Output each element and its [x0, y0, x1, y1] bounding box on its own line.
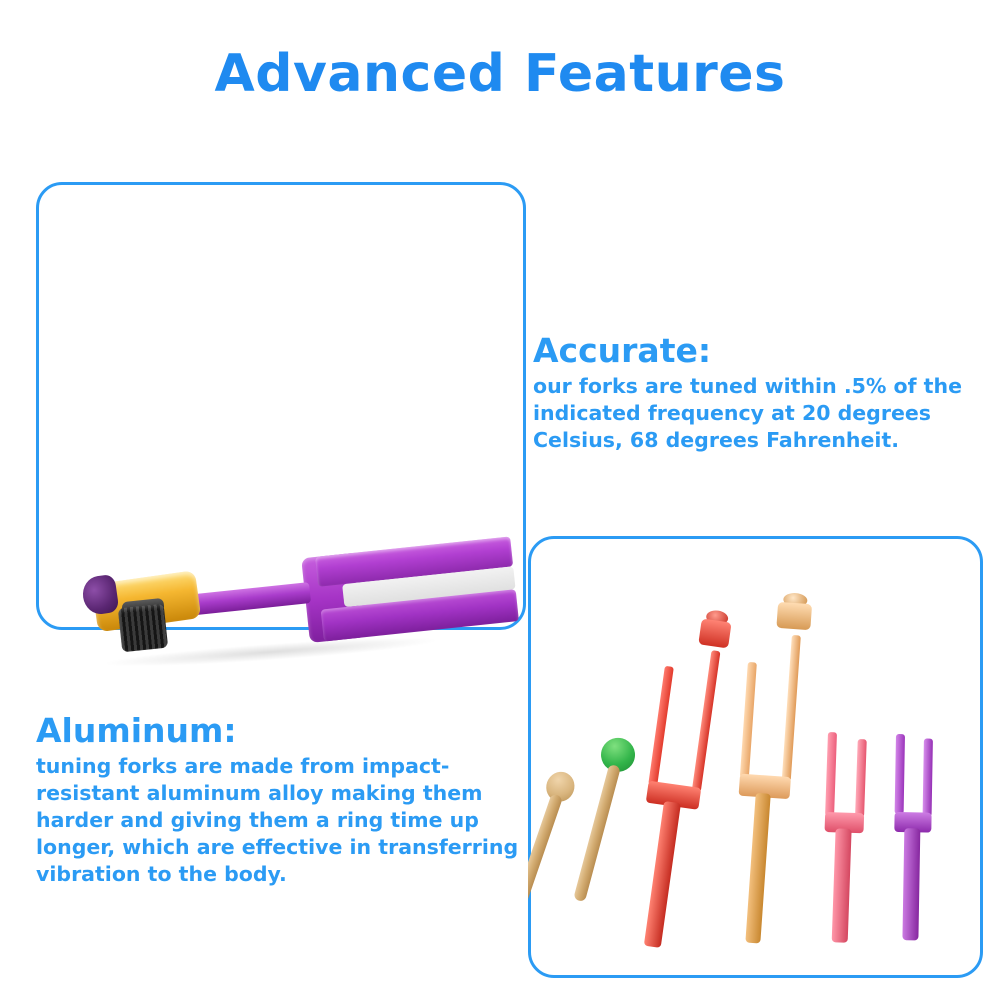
feature-accurate-body: our forks are tuned within .5% of the in…	[533, 373, 975, 454]
pink-fork-tine-left	[825, 732, 837, 816]
purple-fork-tine-left	[895, 734, 905, 814]
feature-aluminum-heading: Aluminum:	[36, 713, 536, 749]
feature-aluminum-body: tuning forks are made from impact-resist…	[36, 753, 536, 888]
feature-aluminum: Aluminum: tuning forks are made from imp…	[36, 713, 536, 889]
pink-fork-stem	[832, 828, 852, 942]
red-fork-stem	[644, 801, 681, 948]
fork-knurled-knob	[118, 604, 168, 653]
pink-fork-tine-right	[855, 739, 867, 817]
red-fork-weight	[698, 618, 731, 648]
red-fork-tine-right	[692, 650, 721, 792]
page-title: Advanced Features	[0, 44, 1000, 104]
purple-fork-tine-right	[923, 738, 933, 816]
wooden-mallet-handle	[528, 793, 563, 918]
single-tuning-fork-photo: 4096 C	[36, 182, 526, 630]
fork-tines-group: 4096 C	[293, 534, 520, 651]
fork-end-cap	[81, 574, 120, 616]
feature-accurate-heading: Accurate:	[533, 333, 975, 369]
gold-fork-stem	[745, 793, 770, 944]
red-fork-tine-left	[648, 666, 674, 786]
gold-fork-tine-left	[740, 662, 757, 778]
gold-fork-weight	[776, 602, 812, 630]
feature-accurate: Accurate: our forks are tuned within .5%…	[533, 333, 975, 454]
purple-fork-stem	[902, 828, 920, 940]
gold-fork-tine-right	[782, 635, 801, 781]
fork-set-photo	[528, 536, 983, 978]
green-mallet-handle	[573, 764, 621, 902]
